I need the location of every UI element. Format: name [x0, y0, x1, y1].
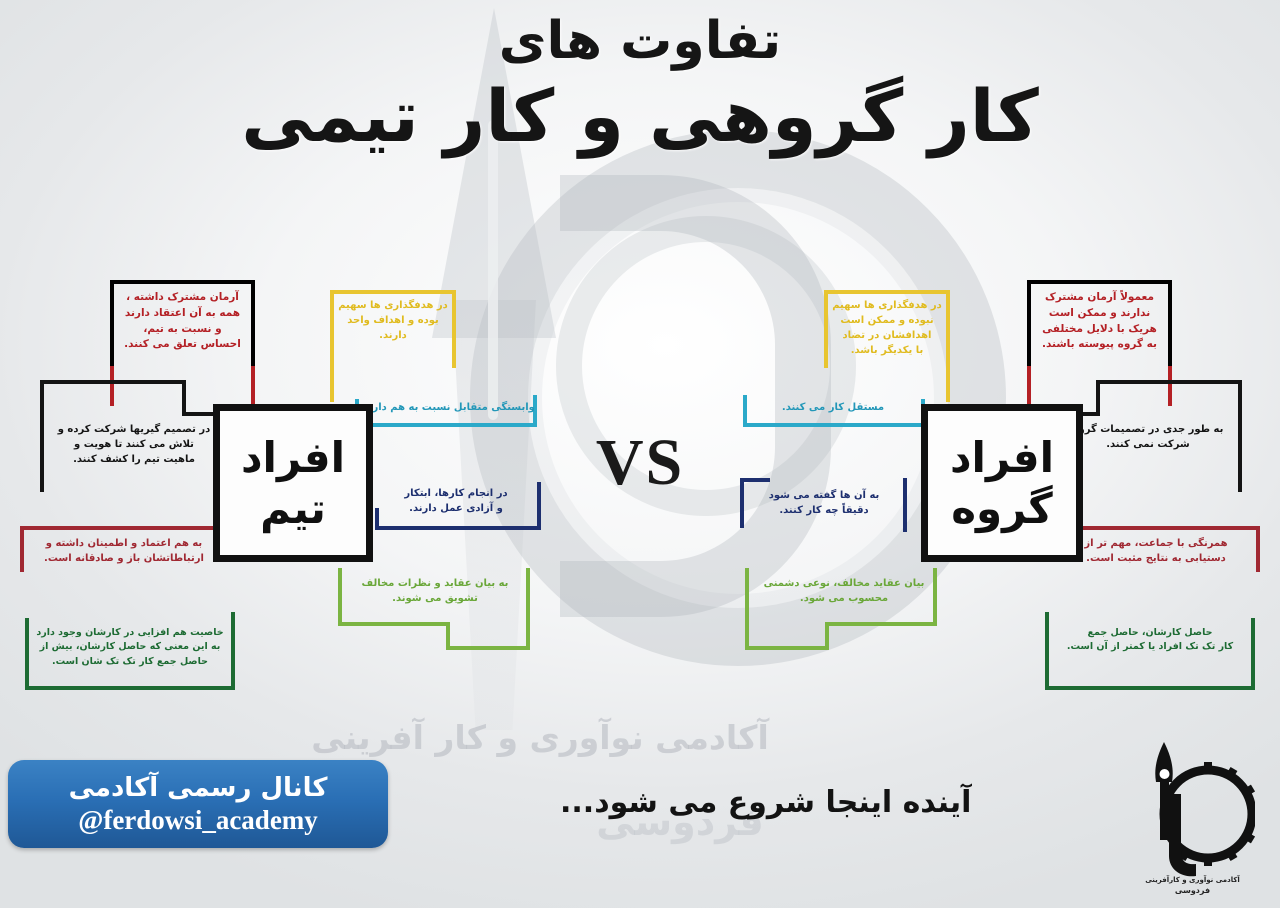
note-group-dissent-text: بیان عقاید مخالف، نوعی دشمنی محسوب می شو…: [753, 576, 935, 606]
note-group-conformity-text: همرنگی با جماعت، مهم تر از دستیابی به نت…: [1058, 536, 1254, 566]
note-team-interdependence-text: وابستگی متقابل نسبت به هم دارند.: [359, 400, 535, 415]
note-team-trust-text: به هم اعتماد و اطمینان داشته و ارتباطاتش…: [26, 536, 222, 566]
note-group-goals-text: در هدفگذاری ها سهیم نبوده و ممکن است اهد…: [828, 298, 946, 358]
telegram-channel-badge[interactable]: کانال رسمی آکادمی @ferdowsi_academy: [8, 760, 388, 848]
ferdowsi-academy-logo: آکادمی نوآوری و کارآفرینی فردوسی: [1130, 736, 1255, 896]
note-group-independent-text: مستقل کار می کنند.: [745, 400, 921, 415]
vs-separator: VS: [568, 425, 712, 501]
logo-caption-line-2: فردوسی: [1130, 886, 1255, 895]
note-team-goals: در هدفگذاری ها سهیم بوده و اهداف واحد دا…: [330, 282, 460, 402]
note-group-output: حاصل کارشان، حاصل جمع کار تک تک افراد یا…: [1043, 612, 1255, 692]
pen-slit-watermark: [488, 120, 498, 420]
note-team-vision-text: آرمان مشترک داشته ، همه به آن اعتقاد دار…: [116, 290, 249, 353]
note-team-dissent-text: به بیان عقاید و نظرات مخالف تشویق می شون…: [344, 576, 526, 606]
note-team-decisions-text: در تصمیم گیریها شرکت کرده و تلاش می کنند…: [40, 422, 228, 467]
channel-title: کانال رسمی آکادمی: [69, 773, 328, 803]
note-group-dissent: بیان عقاید مخالف، نوعی دشمنی محسوب می شو…: [745, 568, 940, 653]
title-line-1: تفاوت های: [0, 14, 1280, 69]
note-group-instructions: به آن ها گفته می شود دقیقاً چه کار کنند.: [735, 478, 910, 536]
note-team-synergy-text: خاصیت هم افزایی در کارشان وجود دارد به ا…: [29, 626, 231, 669]
infographic-poster: آکادمی نوآوری و کار آفرینی فردوسی تفاوت …: [0, 0, 1280, 908]
note-group-goals: در هدفگذاری ها سهیم نبوده و ممکن است اهد…: [820, 282, 950, 402]
note-team-decisions: در تصمیم گیریها شرکت کرده و تلاش می کنند…: [40, 380, 230, 495]
team-label-box: افراد تیم: [213, 404, 373, 562]
note-group-vision-text: معمولاً آرمان مشترک ندارند و ممکن است هر…: [1033, 290, 1166, 353]
note-team-interdependence: وابستگی متقابل نسبت به هم دارند.: [355, 395, 540, 431]
footer-slogan: آینده اینجا شروع می شود...: [560, 785, 1090, 820]
watermark-academy-name: آکادمی نوآوری و کار آفرینی: [0, 718, 1080, 757]
note-team-trust: به هم اعتماد و اطمینان داشته و ارتباطاتش…: [20, 518, 230, 576]
title-line-2: کار گروهی و کار تیمی: [0, 77, 1280, 156]
logo-caption-line-1: آکادمی نوآوری و کارآفرینی: [1130, 876, 1255, 884]
note-group-instructions-text: به آن ها گفته می شود دقیقاً چه کار کنند.: [745, 488, 903, 518]
note-team-initiative-text: در انجام کارها، ابتکار و آزادی عمل دارند…: [375, 486, 537, 516]
channel-handle: @ferdowsi_academy: [78, 805, 318, 836]
poster-title: تفاوت های کار گروهی و کار تیمی: [0, 14, 1280, 156]
note-team-initiative: در انجام کارها، ابتکار و آزادی عمل دارند…: [375, 482, 545, 534]
note-group-independent: مستقل کار می کنند.: [740, 395, 925, 431]
note-team-dissent: به بیان عقاید و نظرات مخالف تشویق می شون…: [338, 568, 533, 653]
note-team-goals-text: در هدفگذاری ها سهیم بوده و اهداف واحد دا…: [334, 298, 452, 343]
note-group-output-text: حاصل کارشان، حاصل جمع کار تک تک افراد یا…: [1049, 626, 1251, 655]
group-label-box: افراد گروه: [921, 404, 1083, 562]
note-team-synergy: خاصیت هم افزایی در کارشان وجود دارد به ا…: [25, 612, 237, 692]
